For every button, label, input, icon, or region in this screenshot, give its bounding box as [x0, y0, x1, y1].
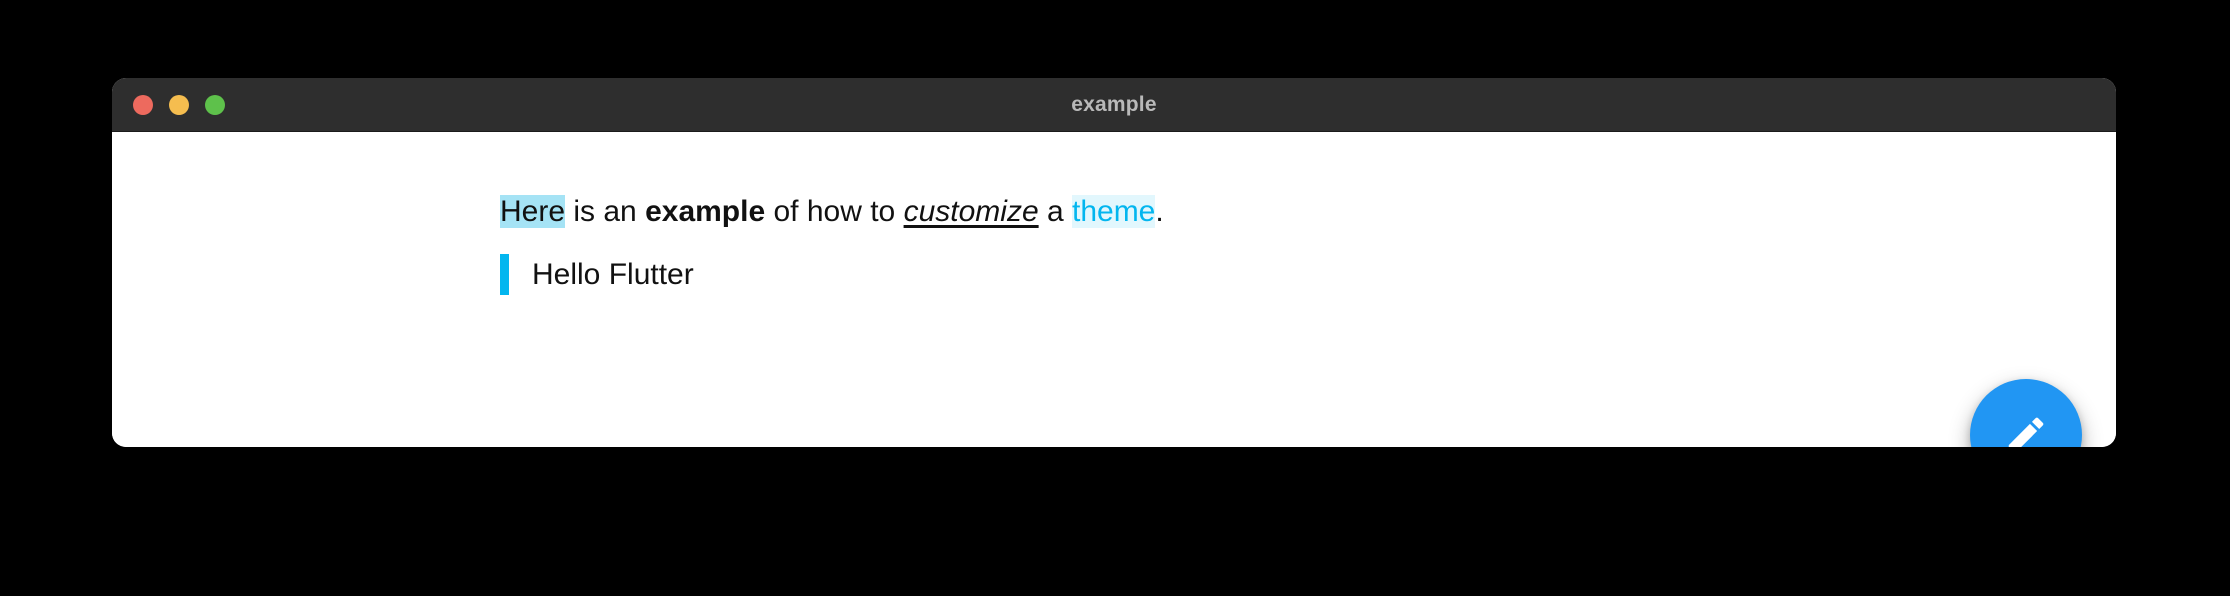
blockquote: Hello Flutter: [500, 254, 694, 295]
text-segment-customize: customize: [904, 195, 1039, 228]
text-segment-of-how-to: of how to: [765, 195, 903, 228]
blockquote-text: Hello Flutter: [532, 260, 694, 290]
text-segment-theme: theme: [1072, 195, 1155, 228]
rich-text-paragraph: Here is an example of how to customize a…: [500, 193, 1164, 231]
text-segment-is-an: is an: [565, 195, 645, 228]
traffic-light-controls: [133, 78, 225, 132]
text-segment-here: Here: [500, 195, 565, 228]
pencil-icon: [2003, 412, 2049, 447]
window-title-bar[interactable]: example: [112, 78, 2116, 132]
maximize-window-button[interactable]: [205, 95, 225, 115]
edit-floating-action-button[interactable]: [1970, 379, 2082, 447]
blockquote-bar: [500, 254, 509, 295]
close-window-button[interactable]: [133, 95, 153, 115]
text-segment-example: example: [645, 195, 765, 228]
app-window: example Here is an example of how to cus…: [112, 78, 2116, 447]
window-body: Here is an example of how to customize a…: [112, 132, 2116, 447]
window-title: example: [112, 78, 2116, 132]
minimize-window-button[interactable]: [169, 95, 189, 115]
text-segment-a: a: [1039, 195, 1072, 228]
text-segment-period: .: [1155, 195, 1163, 228]
